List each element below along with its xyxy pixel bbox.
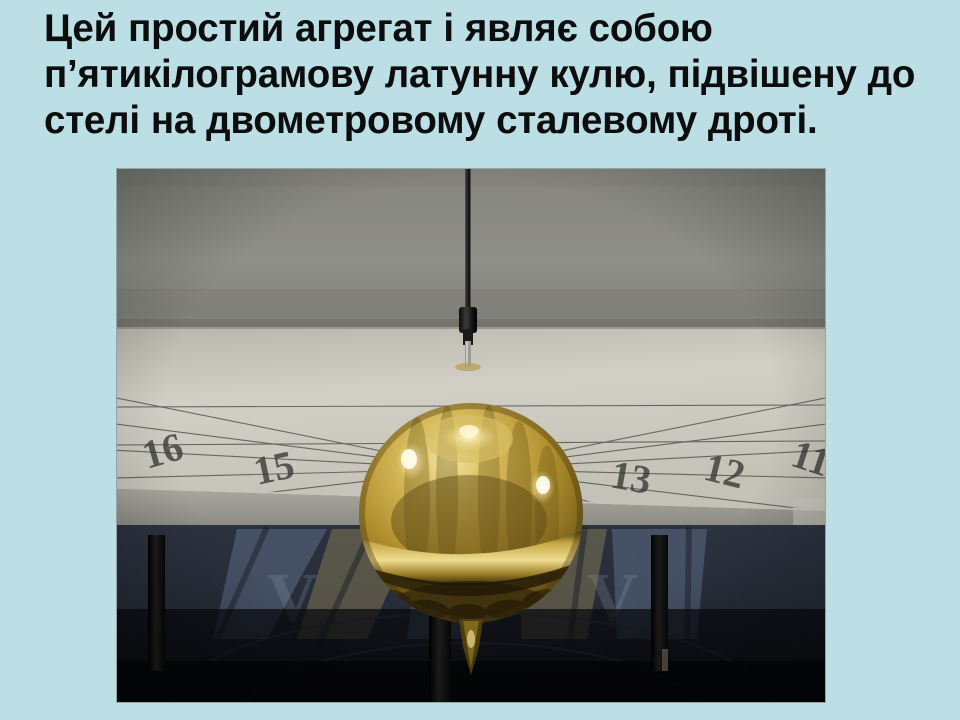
pendulum-photo-svg: 16 15 13 12 11 [117, 169, 825, 702]
slide: Цей простий агрегат і являє собою п’ятик… [0, 0, 960, 720]
pendulum-photo: 16 15 13 12 11 [117, 169, 825, 702]
photo-vignette [117, 169, 825, 702]
slide-caption: Цей простий агрегат і являє собою п’ятик… [44, 6, 944, 144]
